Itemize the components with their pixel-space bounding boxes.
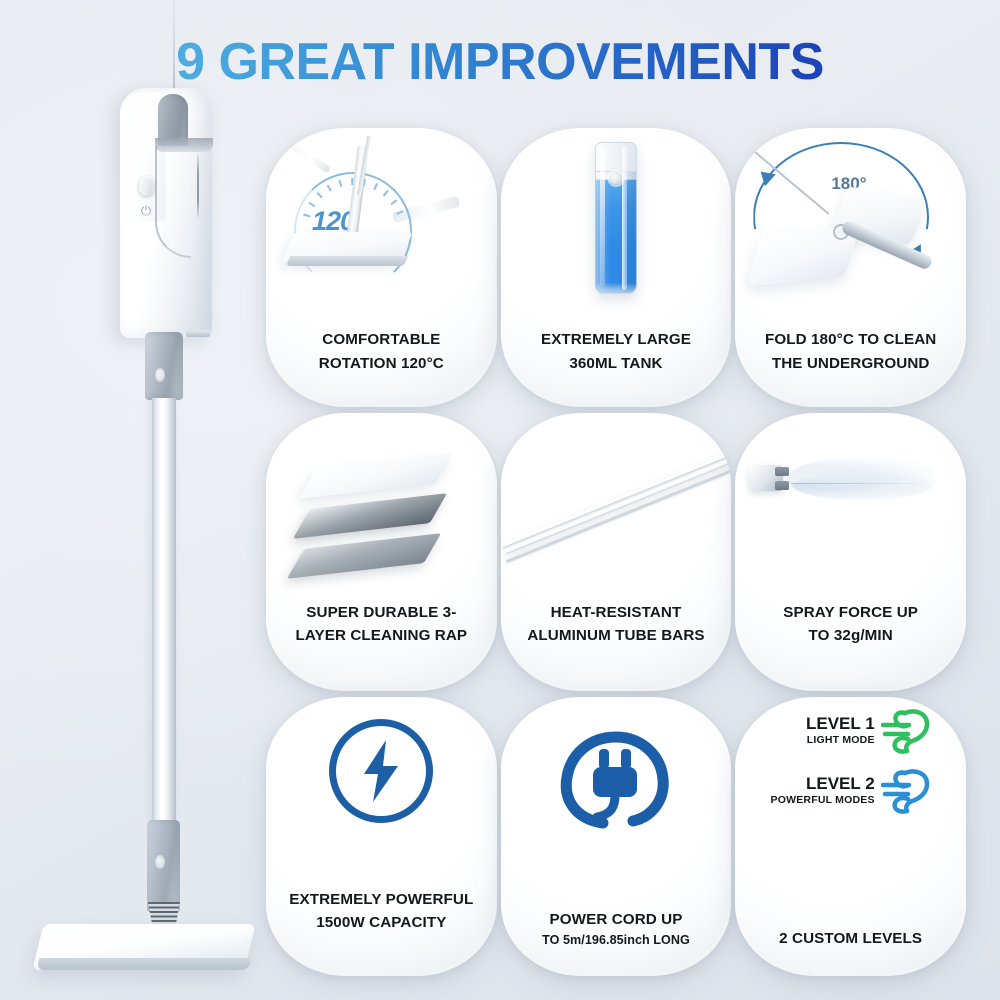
- feature-caption: FOLD 180°C TO CLEAN THE UNDERGROUND: [735, 328, 966, 406]
- product-aluminum-tube: [152, 398, 176, 822]
- page-title: 9 GREAT IMPROVEMENTS: [0, 32, 1000, 92]
- feature-caption: EXTREMELY POWERFUL 1500W CAPACITY: [266, 888, 497, 976]
- water-tank-icon: [501, 128, 732, 328]
- folding-mop-icon: 180°: [735, 128, 966, 328]
- product-power-button: [139, 176, 154, 196]
- aluminum-tube-icon: [501, 413, 732, 601]
- feature-card-comfortable-rotation[interactable]: 120° COMFORTABLE ROTATION 120°C: [266, 128, 497, 407]
- feature-card-powerful-motor[interactable]: EXTREMELY POWERFUL 1500W CAPACITY: [266, 697, 497, 976]
- page-header: 9 GREAT IMPROVEMENTS: [0, 32, 1000, 92]
- product-lower-collar-button: [155, 855, 165, 869]
- features-grid: 120° COMFORTABLE ROTATION 120°C EXTREMEL…: [266, 128, 966, 976]
- level-row-1: LEVEL 1 LIGHT MODE: [749, 705, 952, 755]
- level-row-2: LEVEL 2 POWERFUL MODES: [749, 765, 952, 815]
- feature-card-large-tank[interactable]: EXTREMELY LARGE 360ML TANK: [501, 128, 732, 407]
- power-plug-glyph: [557, 715, 675, 833]
- feature-caption: POWER CORD UP TO 5m/196.85inch LONG: [501, 908, 732, 976]
- product-contour: [155, 146, 191, 258]
- lightning-bolt-glyph: [356, 738, 406, 804]
- power-plug-icon: [557, 715, 675, 833]
- feature-card-spray-force[interactable]: SPRAY FORCE UP TO 32g/MIN: [735, 413, 966, 692]
- product-upper-collar: [145, 332, 183, 400]
- airflow-icon-green: [881, 705, 935, 755]
- power-icon: ⏻: [139, 204, 153, 218]
- product-mop-base-edge: [37, 958, 252, 970]
- feature-card-aluminum-tube[interactable]: HEAT-RESISTANT ALUMINUM TUBE BARS: [501, 413, 732, 692]
- level-title: LEVEL 1: [767, 713, 875, 734]
- feature-caption: COMFORTABLE ROTATION 120°C: [266, 328, 497, 406]
- feature-caption: HEAT-RESISTANT ALUMINUM TUBE BARS: [501, 601, 732, 691]
- product-image: ⏻: [0, 0, 280, 1000]
- feature-caption: SPRAY FORCE UP TO 32g/MIN: [735, 601, 966, 691]
- feature-caption: 2 CUSTOM LEVELS: [735, 927, 966, 976]
- airflow-icon-blue: [881, 765, 935, 815]
- feature-caption: EXTREMELY LARGE 360ML TANK: [501, 328, 732, 406]
- feature-caption: SUPER DURABLE 3- LAYER CLEANING RAP: [266, 601, 497, 691]
- feature-card-custom-levels[interactable]: LEVEL 1 LIGHT MODE LEVEL 2 P: [735, 697, 966, 976]
- feature-card-three-layer-pad[interactable]: SUPER DURABLE 3- LAYER CLEANING RAP: [266, 413, 497, 692]
- feature-card-fold-180[interactable]: 180° FOLD 180°C TO CLEAN THE UNDERGROUND: [735, 128, 966, 407]
- level-title: LEVEL 2: [767, 773, 875, 794]
- product-seam: [197, 152, 199, 220]
- level-subtitle: POWERFUL MODES: [767, 794, 875, 808]
- mop-head-rotation-icon: 120°: [266, 128, 497, 328]
- three-layer-pad-icon: [266, 413, 497, 601]
- spray-nozzle-icon: [735, 413, 966, 601]
- feature-card-power-cord[interactable]: POWER CORD UP TO 5m/196.85inch LONG: [501, 697, 732, 976]
- product-upper-collar-button: [155, 368, 165, 382]
- product-port: [186, 330, 210, 337]
- level-list: LEVEL 1 LIGHT MODE LEVEL 2 P: [735, 705, 966, 817]
- lightning-bolt-icon: [329, 719, 433, 823]
- level-subtitle: LIGHT MODE: [767, 734, 875, 748]
